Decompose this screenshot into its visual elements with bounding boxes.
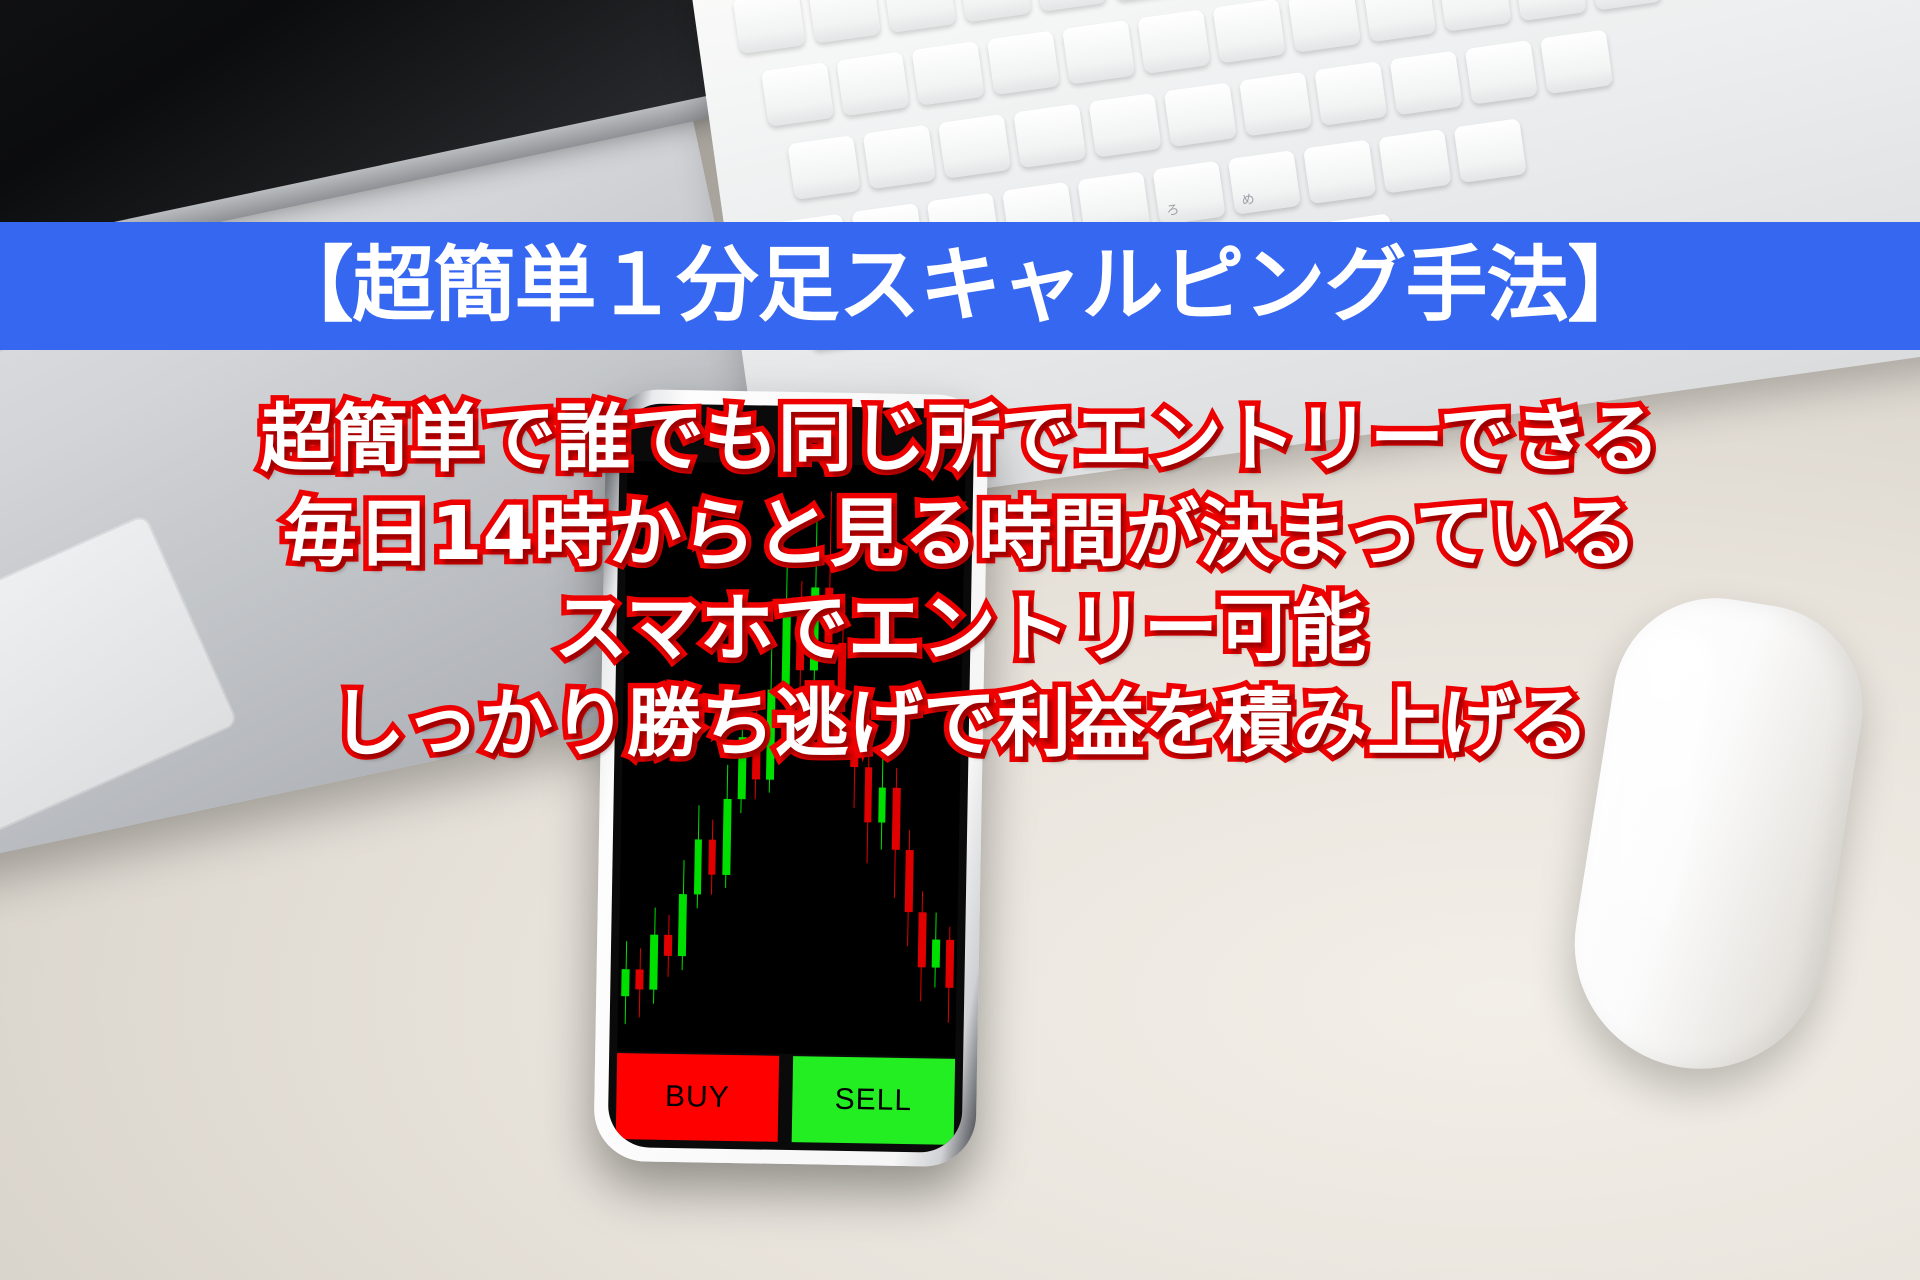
title-banner: 【超簡単１分足スキャルピング手法】 [0,222,1920,350]
keyboard-key: め [1228,150,1301,215]
keyboard-key [733,0,806,54]
keyboard-key [863,125,936,190]
keyboard-key [1088,93,1161,158]
keyboard-key [1303,140,1376,205]
thumbnail-canvas: み M も fn B こ かな [0,0,1920,1280]
keyboard-key [787,135,860,200]
keyboard-key [958,0,1031,22]
candle-body [918,912,927,967]
candle-body [904,850,913,912]
keyboard-key [1465,40,1538,105]
keyboard-key [1438,0,1511,32]
keyboard-key [1164,82,1237,147]
keyboard-key-label: め [1240,188,1256,209]
keyboard-key [808,0,881,44]
candle-body [945,940,954,988]
candle-body [693,840,702,895]
headline-line: 毎日14時からと見る時間が決まっている [283,493,1637,576]
candle-body [650,935,659,990]
headline-line: しっかり勝ち逃げで利益を積み上げる [331,683,1589,766]
sell-button-label: SELL [834,1083,912,1118]
candle-body [878,788,886,822]
keyboard-key [836,52,909,117]
candle-body [932,940,940,968]
candle-body [708,840,716,874]
candle-body [635,969,643,990]
headline-list: 超簡単で誰でも同じ所でエントリーできる毎日14時からと見る時間が決まっているスマ… [0,398,1920,766]
keyboard-key [1239,72,1312,137]
keyboard-key: ろ [1153,161,1226,226]
buy-button[interactable]: BUY [616,1053,779,1142]
keyboard-key [1062,20,1135,85]
candle-body [722,799,731,875]
candle-body [678,894,687,956]
keyboard-key [1314,61,1387,126]
headline-line: スマホでエントリー可能 [554,588,1366,671]
candle-body [621,969,629,997]
keyboard-key [761,62,834,127]
keyboard-key-label: ろ [1165,199,1181,220]
keyboard-key [1213,0,1286,63]
buy-button-label: BUY [665,1080,730,1115]
candle-body [864,767,873,822]
keyboard-key [1363,0,1436,42]
keyboard-key [1390,51,1463,116]
headline-line: 超簡単で誰でも同じ所でエントリーできる [260,398,1660,481]
page-title: 【超簡単１分足スキャルピング手法】 [271,245,1648,327]
keyboard-key [1034,0,1107,12]
keyboard-key [1454,118,1527,183]
keyboard-key [1589,0,1662,10]
keyboard-key [1137,9,1210,74]
keyboard-key [1514,0,1587,21]
keyboard-key [1013,103,1086,168]
keyboard-key [1540,29,1613,94]
order-buttons: BUY SELL [616,1053,955,1145]
keyboard-key [1378,129,1451,194]
candle-body [891,788,900,850]
keyboard-key [1109,0,1182,1]
keyboard-key [883,0,956,33]
candle-body [664,935,672,956]
keyboard-key [938,114,1011,179]
keyboard-key [987,30,1060,95]
keyboard-key [912,41,985,106]
keyboard-key [1288,0,1361,53]
sell-button[interactable]: SELL [792,1056,955,1145]
